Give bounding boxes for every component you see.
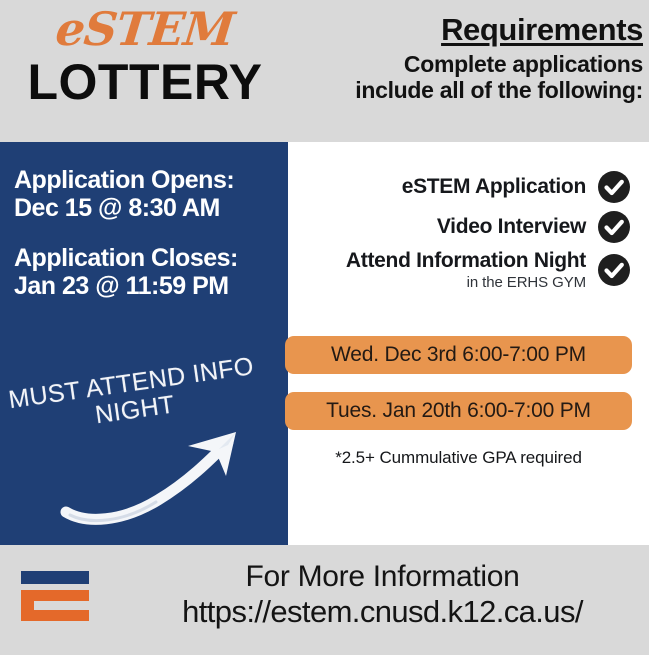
requirement-item-estem-application: eSTEM Application bbox=[288, 170, 643, 204]
curved-brush-arrow-icon bbox=[60, 412, 285, 532]
poster-canvas: eSTEM LOTTERY Requirements Complete appl… bbox=[0, 0, 649, 655]
application-opens-value: Dec 15 @ 8:30 AM bbox=[14, 194, 284, 222]
requirement-note: in the ERHS GYM bbox=[346, 274, 586, 291]
brand-block: eSTEM LOTTERY bbox=[0, 6, 290, 107]
info-night-session-1[interactable]: Wed. Dec 3rd 6:00-7:00 PM bbox=[285, 336, 632, 374]
requirement-text-wrap: Video Interview bbox=[437, 216, 597, 239]
requirements-title: Requirements bbox=[293, 14, 643, 47]
footer-more-info-label: For More Information bbox=[120, 560, 645, 593]
footer-info: For More Information https://estem.cnusd… bbox=[120, 560, 645, 630]
cnusd-bars-logo-icon bbox=[18, 569, 103, 623]
requirements-subtitle-line-2: include all of the following: bbox=[293, 77, 643, 103]
gpa-requirement-note: *2.5+ Cummulative GPA required bbox=[285, 448, 632, 468]
check-circle-icon bbox=[597, 253, 631, 287]
requirements-list: eSTEM Application Video Interview Attend… bbox=[288, 170, 643, 297]
application-closes-value: Jan 23 @ 11:59 PM bbox=[14, 272, 284, 300]
brand-title-lottery: LOTTERY bbox=[0, 57, 290, 107]
requirement-item-information-night: Attend Information Night in the ERHS GYM bbox=[288, 250, 643, 291]
poster-header: eSTEM LOTTERY Requirements Complete appl… bbox=[0, 0, 649, 142]
requirement-label: eSTEM Application bbox=[402, 176, 586, 199]
requirement-label: Attend Information Night bbox=[346, 250, 586, 273]
requirement-text-wrap: Attend Information Night in the ERHS GYM bbox=[346, 250, 597, 291]
info-night-session-2[interactable]: Tues. Jan 20th 6:00-7:00 PM bbox=[285, 392, 632, 430]
requirements-heading-block: Requirements Complete applications inclu… bbox=[293, 14, 643, 103]
application-opens-label: Application Opens: bbox=[14, 166, 284, 194]
requirement-text-wrap: eSTEM Application bbox=[402, 176, 597, 199]
application-closes-label: Application Closes: bbox=[14, 244, 284, 272]
footer-url[interactable]: https://estem.cnusd.k12.ca.us/ bbox=[120, 595, 645, 630]
schedule-panel: Application Opens: Dec 15 @ 8:30 AM Appl… bbox=[0, 142, 288, 545]
requirement-label: Video Interview bbox=[437, 216, 586, 239]
requirement-item-video-interview: Video Interview bbox=[288, 210, 643, 244]
brand-script-estem: eSTEM bbox=[54, 6, 237, 52]
application-dates: Application Opens: Dec 15 @ 8:30 AM Appl… bbox=[14, 166, 284, 300]
check-circle-icon bbox=[597, 210, 631, 244]
requirements-subtitle-line-1: Complete applications bbox=[293, 51, 643, 77]
check-circle-icon bbox=[597, 170, 631, 204]
poster-footer: For More Information https://estem.cnusd… bbox=[0, 545, 649, 655]
